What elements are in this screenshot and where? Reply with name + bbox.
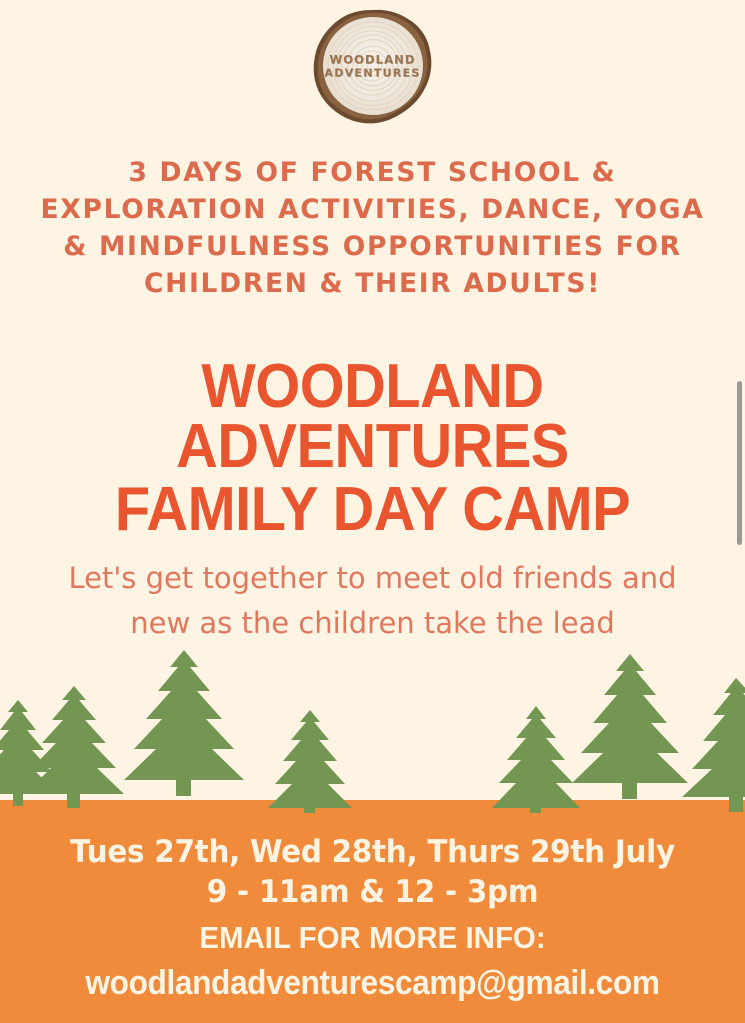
- pine-tree-row: [0, 648, 745, 813]
- email-address[interactable]: woodlandadventurescamp@gmail.com: [32, 961, 714, 1005]
- tagline-text: Let's get together to meet old friends a…: [0, 556, 745, 646]
- kicker-line-4: CHILDREN & THEIR ADULTS!: [10, 265, 735, 302]
- tagline-line-1: Let's get together to meet old friends a…: [24, 556, 721, 601]
- kicker-text: 3 DAYS OF FOREST SCHOOL & EXPLORATION AC…: [0, 154, 745, 302]
- camp-dates: Tues 27th, Wed 28th, Thurs 29th July: [24, 832, 720, 872]
- logo-line-1: WOODLAND: [311, 52, 435, 66]
- page-title: WOODLAND ADVENTURES FAMILY DAY CAMP: [0, 357, 745, 540]
- vertical-scrollbar-thumb[interactable]: [737, 381, 742, 545]
- vertical-scrollbar-track[interactable]: [734, 0, 745, 1023]
- logo-line-2: ADVENTURES: [311, 66, 435, 79]
- title-line-2: FAMILY DAY CAMP: [30, 480, 715, 540]
- kicker-line-3: & MINDFULNESS OPPORTUNITIES FOR: [10, 228, 735, 265]
- kicker-line-1: 3 DAYS OF FOREST SCHOOL &: [10, 154, 735, 191]
- email-label: EMAIL FOR MORE INFO:: [24, 917, 720, 959]
- wood-slice-icon: WOODLAND ADVENTURES: [311, 8, 435, 126]
- tagline-line-2: new as the children take the lead: [24, 601, 721, 646]
- logo-text: WOODLAND ADVENTURES: [311, 52, 435, 79]
- footer-info: Tues 27th, Wed 28th, Thurs 29th July 9 -…: [0, 832, 745, 1006]
- poster-canvas: WOODLAND ADVENTURES 3 DAYS OF FOREST SCH…: [0, 0, 745, 1023]
- kicker-line-2: EXPLORATION ACTIVITIES, DANCE, YOGA: [10, 191, 735, 228]
- logo-container: WOODLAND ADVENTURES: [0, 4, 745, 129]
- camp-times: 9 - 11am & 12 - 3pm: [24, 872, 720, 913]
- title-line-1: WOODLAND ADVENTURES: [30, 357, 715, 476]
